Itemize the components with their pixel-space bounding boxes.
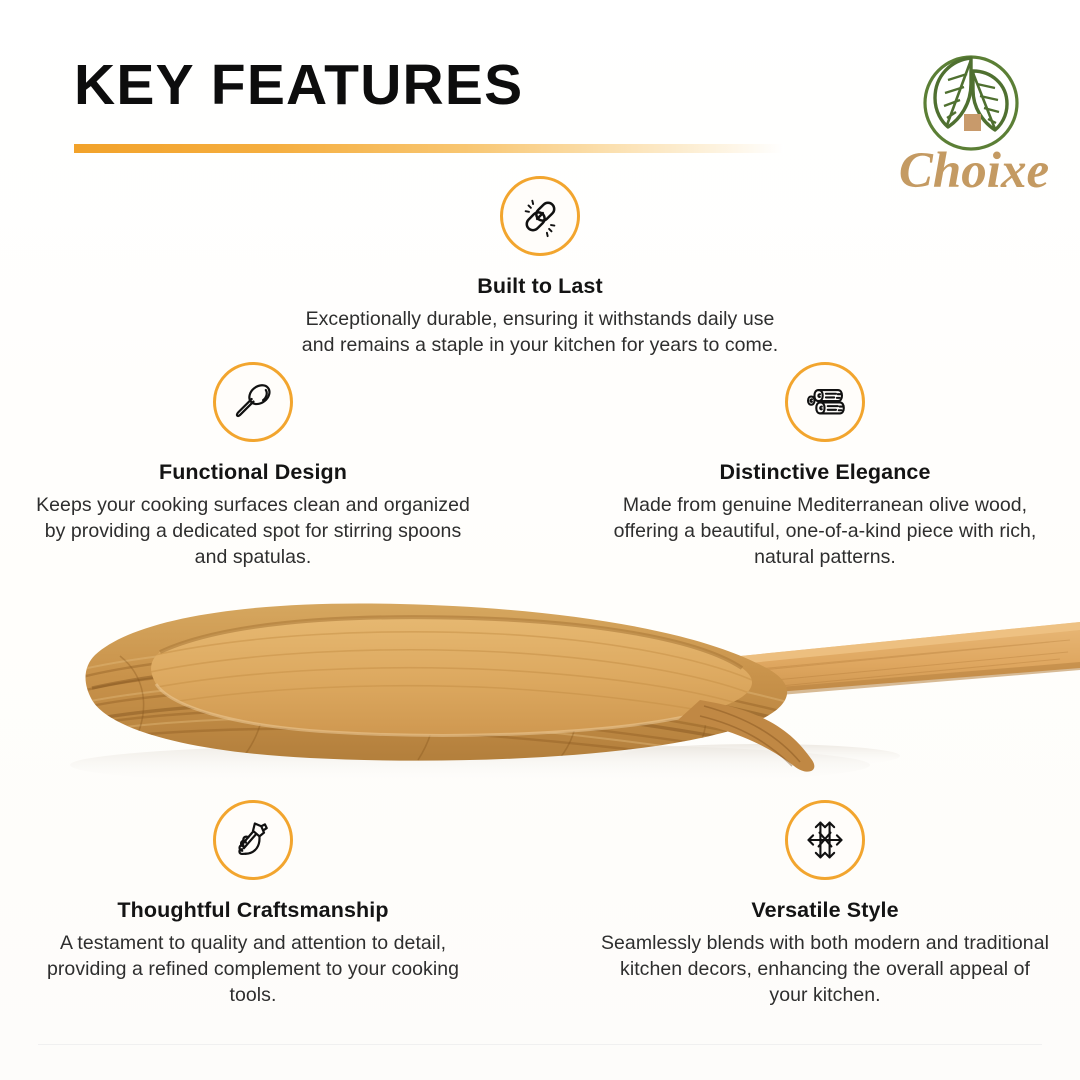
wooden-spoon-rest-photo-icon [0, 560, 1080, 820]
feature-versatile-style: Versatile Style Seamlessly blends with b… [600, 800, 1050, 1009]
feature-functional-design: Functional Design Keeps your cooking sur… [28, 362, 478, 571]
wood-logs-icon [785, 362, 865, 442]
infographic-page: KEY FEATURES Choixe [0, 0, 1080, 1080]
spoon-icon [213, 362, 293, 442]
leaf-circle-logo-icon [915, 46, 1027, 158]
bottom-divider [38, 1044, 1042, 1045]
feature-thoughtful-craftsmanship: Thoughtful Craftsmanship A testament to … [28, 800, 478, 1009]
feature-description: Keeps your cooking surfaces clean and or… [28, 493, 478, 571]
feature-title: Distinctive Elegance [600, 460, 1050, 486]
feature-description: Exceptionally durable, ensuring it withs… [290, 307, 790, 359]
page-title: KEY FEATURES [74, 57, 523, 114]
brand-logo: Choixe [884, 46, 1064, 211]
feature-title: Versatile Style [600, 898, 1050, 924]
feature-title: Thoughtful Craftsmanship [28, 898, 478, 924]
product-photo [0, 560, 1080, 820]
feature-title: Built to Last [290, 274, 790, 300]
hand-hammer-icon [213, 800, 293, 880]
title-underline-gradient [74, 144, 784, 153]
feature-description: A testament to quality and attention to … [28, 931, 478, 1009]
feature-description: Made from genuine Mediterranean olive wo… [600, 493, 1050, 571]
feature-description: Seamlessly blends with both modern and t… [600, 931, 1050, 1009]
feature-title: Functional Design [28, 460, 478, 486]
chain-link-icon [500, 176, 580, 256]
feature-built-to-last: Built to Last Exceptionally durable, ens… [290, 176, 790, 359]
feature-distinctive-elegance: Distinctive Elegance Made from genuine M… [600, 362, 1050, 571]
brand-wordmark: Choixe [884, 146, 1064, 197]
multi-direction-arrows-icon [785, 800, 865, 880]
